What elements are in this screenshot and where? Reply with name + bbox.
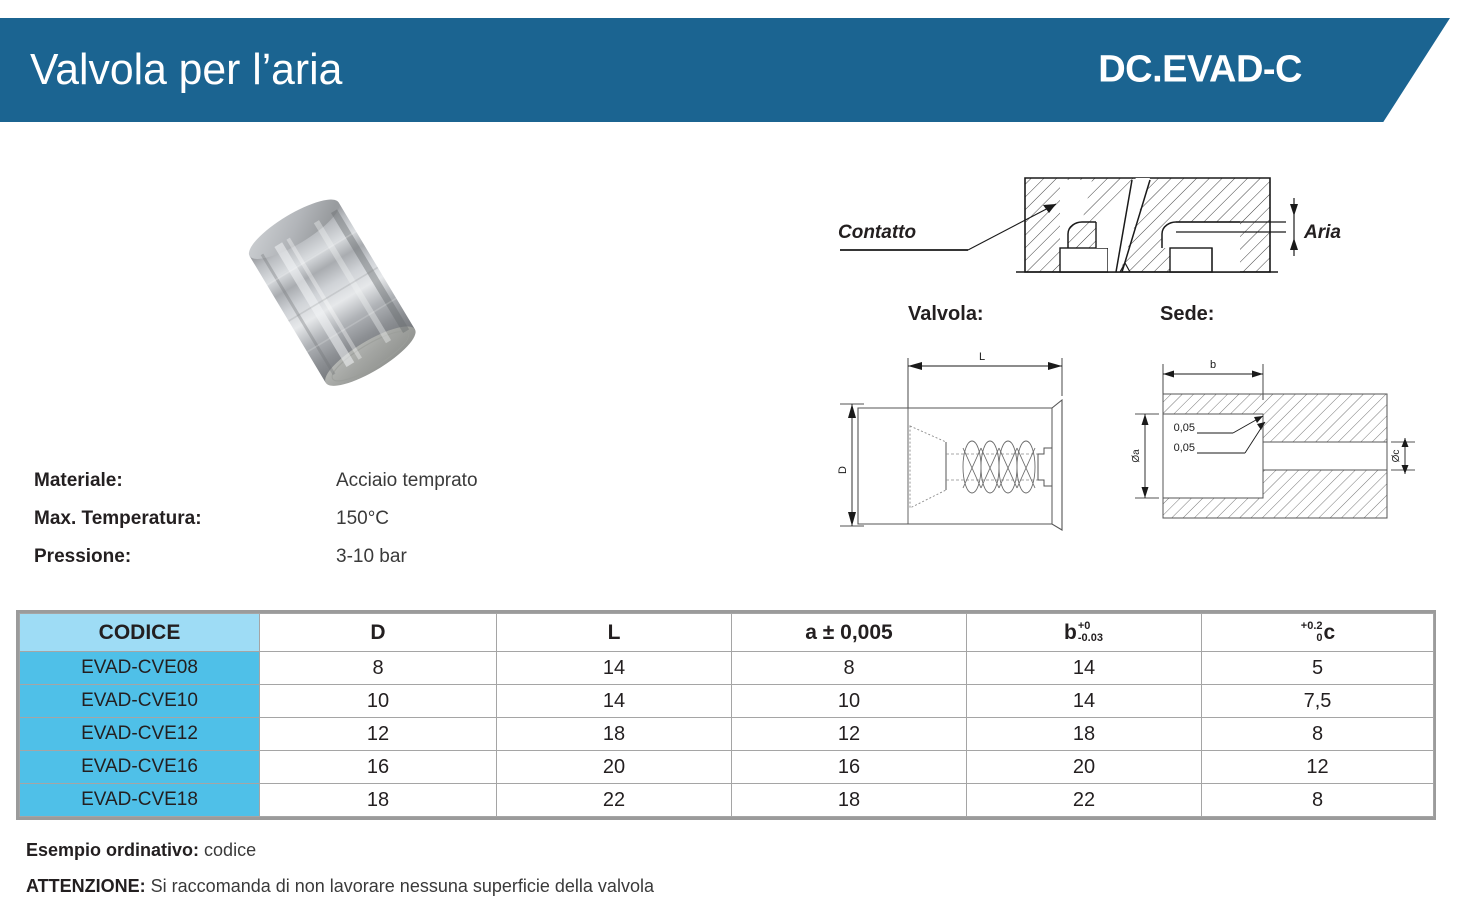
cell-b: 20 [967,751,1202,784]
cell-a: 12 [732,718,967,751]
steel-cylinder-photo-icon [222,182,472,402]
valve-dim-L: L [979,351,985,363]
warning-note-value: Si raccomanda di non lavorare nessuna su… [151,876,654,896]
valve-dim-D: D [837,466,849,474]
cell-codice: EVAD-CVE16 [20,751,260,784]
page-title: Valvola per l’aria [30,45,342,95]
product-photo [222,182,472,402]
cell-c: 5 [1202,652,1434,685]
spec-value-materiale: Acciaio temprato [336,470,478,492]
table-header-row: CODICE D L a ± 0,005 b+0-0.03 +0.20c [20,614,1434,652]
cell-l: 22 [497,784,732,817]
dimensions-table: CODICE D L a ± 0,005 b+0-0.03 +0.20c EVA… [16,610,1436,820]
example-note-value: codice [204,840,256,860]
cell-l: 20 [497,751,732,784]
header-banner: Valvola per l’aria DC.EVAD-C [0,18,1450,122]
column-header-d: D [260,614,497,652]
cell-l: 14 [497,685,732,718]
column-header-c: +0.20c [1202,614,1434,652]
warning-note: ATTENZIONE: Si raccomanda di non lavorar… [26,876,1026,897]
table-row[interactable]: EVAD-CVE12 12 18 12 18 8 [20,718,1434,751]
warning-note-label: ATTENZIONE: [26,876,146,896]
valvola-caption: Valvola: [908,303,984,326]
cell-codice: EVAD-CVE12 [20,718,260,751]
spec-value-temperatura: 150°C [336,508,389,530]
spec-label-materiale: Materiale: [34,470,336,492]
cell-c: 7,5 [1202,685,1434,718]
cell-codice: EVAD-CVE08 [20,652,260,685]
spec-row-pressione: Pressione: 3-10 bar [34,538,554,576]
b-tol-lower: -0.03 [1078,633,1103,645]
cell-codice: EVAD-CVE10 [20,685,260,718]
column-header-b-tolerance: +0-0.03 [1078,621,1103,644]
table-row[interactable]: EVAD-CVE18 18 22 18 22 8 [20,784,1434,817]
seat-dim-b: b [1210,359,1216,371]
spec-row-materiale: Materiale: Acciaio temprato [34,462,554,500]
table-row[interactable]: EVAD-CVE10 10 14 10 14 7,5 [20,685,1434,718]
cell-b: 14 [967,685,1202,718]
c-tol-lower: 0 [1301,633,1323,645]
cell-d: 10 [260,685,497,718]
table-body: EVAD-CVE08 8 14 8 14 5 EVAD-CVE10 10 14 … [20,652,1434,817]
sede-caption: Sede: [1160,303,1214,326]
column-header-c-tolerance: +0.20 [1301,621,1323,644]
cell-l: 18 [497,718,732,751]
cell-c: 12 [1202,751,1434,784]
cell-d: 8 [260,652,497,685]
cell-codice: EVAD-CVE18 [20,784,260,817]
column-header-l: L [497,614,732,652]
seat-chamfer-2: 0,05 [1174,442,1195,454]
spec-label-temperatura: Max. Temperatura: [34,508,336,530]
cell-b: 14 [967,652,1202,685]
aria-label: Aria [1304,222,1341,244]
seat-drawing: b Øa Øc 0,05 0,05 [1125,338,1425,548]
spec-value-pressione: 3-10 bar [336,546,407,568]
seat-dim-dia-a: Øa [1131,449,1142,463]
footer-notes: Esempio ordinativo: codice ATTENZIONE: S… [26,840,1026,912]
table-row[interactable]: EVAD-CVE08 8 14 8 14 5 [20,652,1434,685]
cell-c: 8 [1202,784,1434,817]
cell-a: 8 [732,652,967,685]
cell-d: 16 [260,751,497,784]
cell-b: 18 [967,718,1202,751]
column-header-b: b+0-0.03 [967,614,1202,652]
valve-drawing: L D [830,338,1110,548]
table-row[interactable]: EVAD-CVE16 16 20 16 20 12 [20,751,1434,784]
cell-l: 14 [497,652,732,685]
dimensions-table-grid: CODICE D L a ± 0,005 b+0-0.03 +0.20c EVA… [19,613,1434,817]
column-header-c-symbol: c [1324,621,1336,644]
specification-list: Materiale: Acciaio temprato Max. Tempera… [34,462,554,576]
technical-drawings: Contatto Aria Valvola: Sede: L D [820,160,1460,550]
cell-d: 12 [260,718,497,751]
column-header-b-symbol: b [1064,621,1077,644]
cell-b: 22 [967,784,1202,817]
contatto-label: Contatto [838,222,916,244]
cell-d: 18 [260,784,497,817]
example-note: Esempio ordinativo: codice [26,840,1026,861]
seat-dim-dia-c: Øc [1391,450,1402,463]
cell-a: 18 [732,784,967,817]
cell-a: 16 [732,751,967,784]
column-header-a: a ± 0,005 [732,614,967,652]
cell-a: 10 [732,685,967,718]
cell-c: 8 [1202,718,1434,751]
seat-chamfer-1: 0,05 [1174,422,1195,434]
spec-label-pressione: Pressione: [34,546,336,568]
column-header-codice: CODICE [20,614,260,652]
example-note-label: Esempio ordinativo: [26,840,199,860]
spec-row-temperatura: Max. Temperatura: 150°C [34,500,554,538]
product-code-label: DC.EVAD-C [1098,49,1302,92]
